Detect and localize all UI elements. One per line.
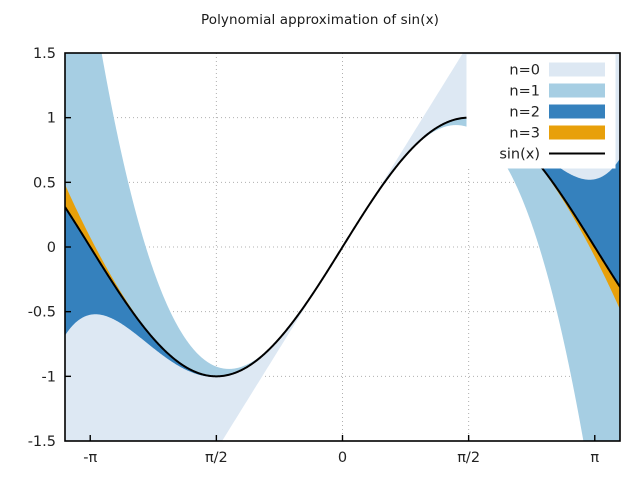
y-tick-label-1: 1 (47, 111, 56, 127)
legend-label-4: sin(x) (499, 147, 540, 163)
x-tick-label-1: π/2 (205, 450, 228, 466)
legend-label-0: n=0 (509, 63, 540, 79)
x-axis-labels: -ππ/20π/2π (83, 450, 599, 466)
x-tick-label-4: π (590, 450, 599, 466)
y-tick-label-6: -1.5 (28, 434, 56, 450)
y-tick-label-4: -0.5 (28, 305, 56, 321)
y-tick-label-5: -1 (42, 369, 56, 385)
legend-label-3: n=3 (509, 126, 540, 142)
y-tick-label-2: 0.5 (33, 175, 56, 191)
y-tick-label-3: 0 (47, 240, 56, 256)
legend-label-1: n=1 (509, 84, 540, 100)
chart-figure: Polynomial approximation of sin(x) 1.510… (0, 0, 640, 480)
x-tick-label-2: 0 (338, 450, 347, 466)
legend[interactable]: n=0n=1n=2n=3sin(x) (467, 55, 615, 168)
x-tick-label-0: -π (83, 450, 97, 466)
legend-label-2: n=2 (509, 105, 540, 121)
legend-swatch-2 (549, 105, 605, 119)
y-axis-labels: 1.510.50-0.5-1-1.5 (28, 46, 56, 450)
legend-swatch-1 (549, 84, 605, 98)
legend-swatch-3 (549, 126, 605, 140)
x-tick-label-3: π/2 (457, 450, 480, 466)
legend-swatch-0 (549, 63, 605, 77)
plot-canvas: 1.510.50-0.5-1-1.5 -ππ/20π/2π n=0n=1n=2n… (0, 0, 640, 480)
y-tick-label-0: 1.5 (33, 46, 56, 62)
